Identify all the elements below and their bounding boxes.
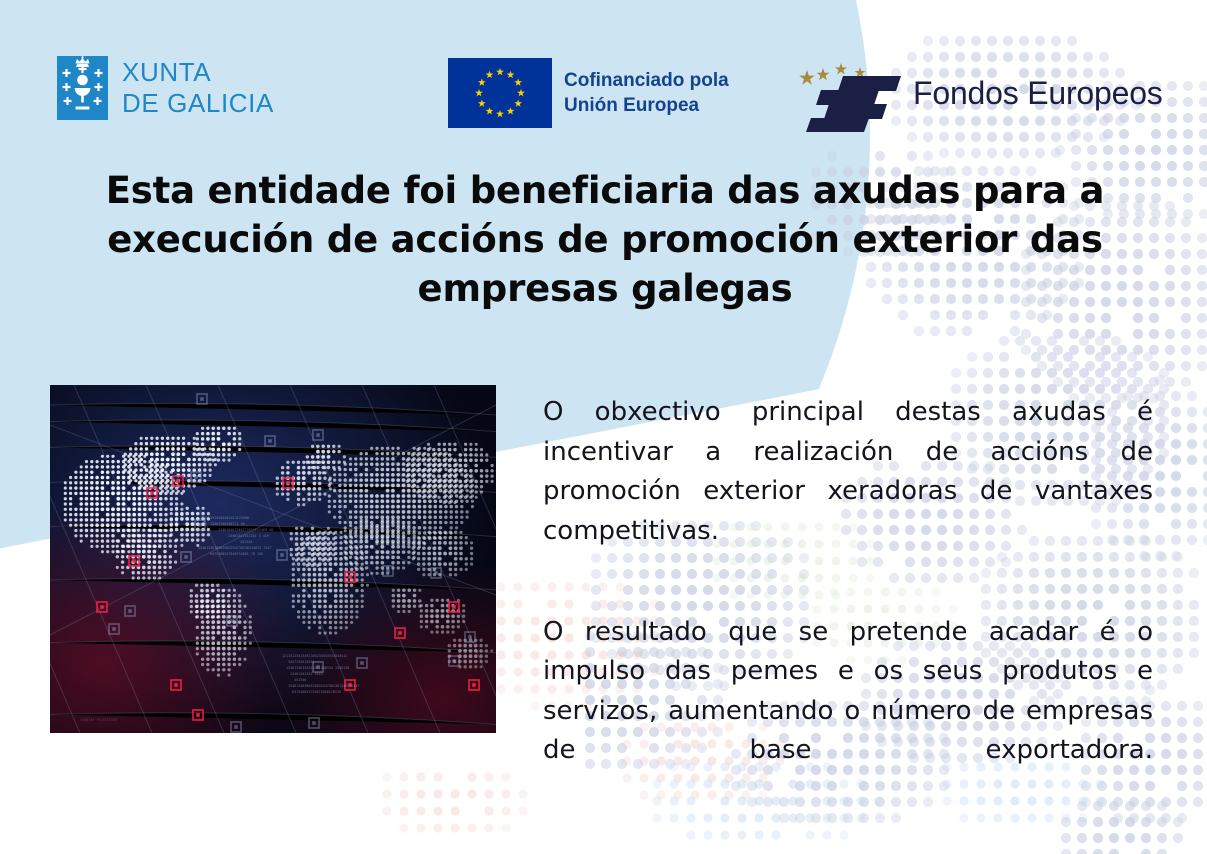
european-union-logo: Cofinanciado pola Unión Europea (448, 58, 729, 128)
eu-logo-line1: Cofinanciado pola (564, 68, 729, 93)
eu-flag-icon (448, 58, 552, 128)
eu-logo-line2: Unión Europea (564, 93, 729, 118)
svg-text:134613463806708325473613613462: 1346134638067083254736136134625 7547 (198, 546, 272, 550)
svg-text:451346: 451346 (294, 678, 306, 682)
svg-text:13461346946713 46: 13461346946713 46 (210, 522, 245, 526)
xunta-logo-wordmark: XUNTA DE GALICIA (122, 57, 274, 118)
svg-text:451346: 451346 (240, 540, 252, 544)
poster-canvas: XUNTA DE GALICIA Cofinanciado pola Unión… (0, 0, 1207, 854)
galicia-coat-of-arms-icon (57, 56, 108, 120)
svg-text:121341234134513452345345345345: 12134123413451345234534534534512 (282, 654, 347, 658)
fondos-europeos-mark-icon (795, 54, 907, 132)
svg-text:6475468347546754661 78 135: 6475468347546754661 78 135 (210, 552, 263, 556)
svg-text:13461341341 3419: 13461341341 3419 (290, 672, 323, 676)
eu-logo-text: Cofinanciado pola Unión Europea (564, 68, 729, 119)
svg-text:13461341341341 3 419: 13461341341341 3 419 (228, 534, 269, 538)
svg-text:13461346134513461346134 134613: 13461346134513461346134 1346138 (286, 666, 349, 670)
body-paragraph-1: O obxectivo principal destas axudas é in… (543, 393, 1153, 591)
body-paragraph-2: O resultado que se pretende acadar é o i… (543, 613, 1153, 811)
xunta-de-galicia-logo: XUNTA DE GALICIA (57, 56, 274, 120)
svg-text:134610461346172454652465 40: 134610461346172454652465 40 (218, 528, 273, 532)
fondos-europeos-label: Fondos Europeos (913, 75, 1163, 112)
svg-text:3457134513451: 3457134513451 (288, 660, 315, 664)
fondos-europeos-logo: Fondos Europeos (795, 54, 1163, 132)
svg-text:13461346380670832547361361346: 13461346380670832547361361346 25547 (288, 684, 359, 688)
page-title: Esta entidade foi beneficiaria das axuda… (60, 166, 1150, 314)
svg-text:647546834754675466178135: 647546834754675466178135 (292, 690, 341, 694)
logo-row: XUNTA DE GALICIA Cofinanciado pola Unión… (0, 46, 1207, 142)
xunta-logo-line1: XUNTA (122, 57, 211, 87)
body-copy: O obxectivo principal destas axudas é in… (543, 393, 1153, 810)
xunta-logo-line2: DE GALICIA (122, 88, 274, 119)
svg-text:1346134 7613471346: 1346134 7613471346 (80, 718, 117, 722)
world-map-network-photo: 13847191028440241312345613461346946713 4… (50, 385, 496, 733)
svg-text:138471910284402413123456: 138471910284402413123456 (200, 516, 249, 520)
